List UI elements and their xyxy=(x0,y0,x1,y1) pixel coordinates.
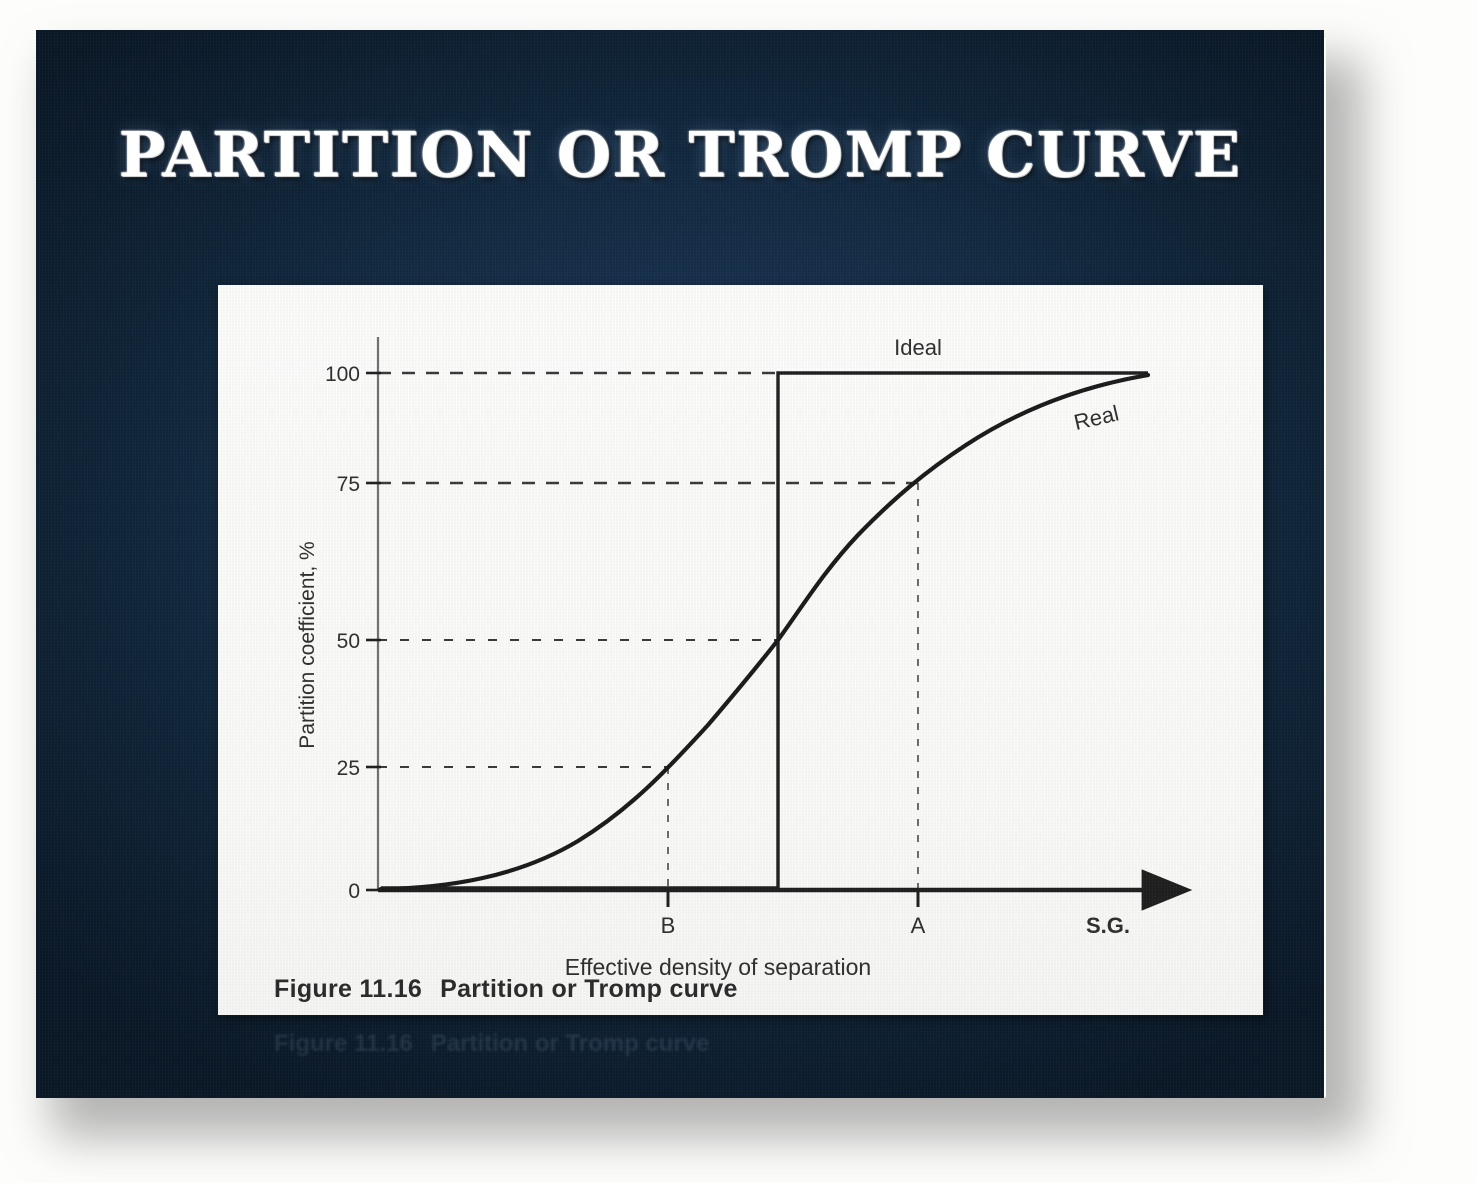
figure-caption-reflection: Figure 11.16Partition or Tromp curve xyxy=(274,1030,709,1058)
y-axis-label: Partition coefficient, % xyxy=(296,541,319,748)
figure-panel-background: 100 75 50 25 0 B A S.G. Effective densit… xyxy=(218,285,1263,1015)
figure-caption-text: Partition or Tromp curve xyxy=(440,975,738,1003)
series-real-line xyxy=(381,375,1148,889)
figure-caption-reflection-number: Figure 11.16 xyxy=(274,1030,413,1057)
tromp-curve-chart: 100 75 50 25 0 B A S.G. Effective densit… xyxy=(218,285,1263,1015)
figure-caption-number: Figure 11.16 xyxy=(274,975,422,1003)
guide-lines xyxy=(668,483,918,890)
series-ideal-label: Ideal xyxy=(894,335,942,360)
figure-caption: Figure 11.16Partition or Tromp curve xyxy=(274,975,738,1004)
figure-caption-reflection-text: Partition or Tromp curve xyxy=(431,1030,710,1057)
x-axis-end-label: S.G. xyxy=(1086,913,1130,938)
x-tick-marks xyxy=(668,890,918,907)
x-tick-label-A: A xyxy=(911,913,926,938)
page-title: PARTITION OR TROMP CURVE xyxy=(36,118,1324,191)
y-tick-label-75: 75 xyxy=(337,473,360,496)
y-tick-label-0: 0 xyxy=(348,880,360,903)
series-real-label: Real xyxy=(1071,400,1121,435)
presentation-slide: PARTITION OR TROMP CURVE xyxy=(36,30,1324,1098)
x-tick-label-B: B xyxy=(661,913,676,938)
slide-mat: PARTITION OR TROMP CURVE xyxy=(0,0,1477,1183)
y-tick-label-25: 25 xyxy=(337,757,360,780)
series-ideal-line xyxy=(381,373,1148,888)
figure-panel: 100 75 50 25 0 B A S.G. Effective densit… xyxy=(218,285,1263,1015)
gridlines xyxy=(378,373,1133,767)
y-tick-label-100: 100 xyxy=(325,363,360,386)
y-tick-label-50: 50 xyxy=(337,630,360,653)
